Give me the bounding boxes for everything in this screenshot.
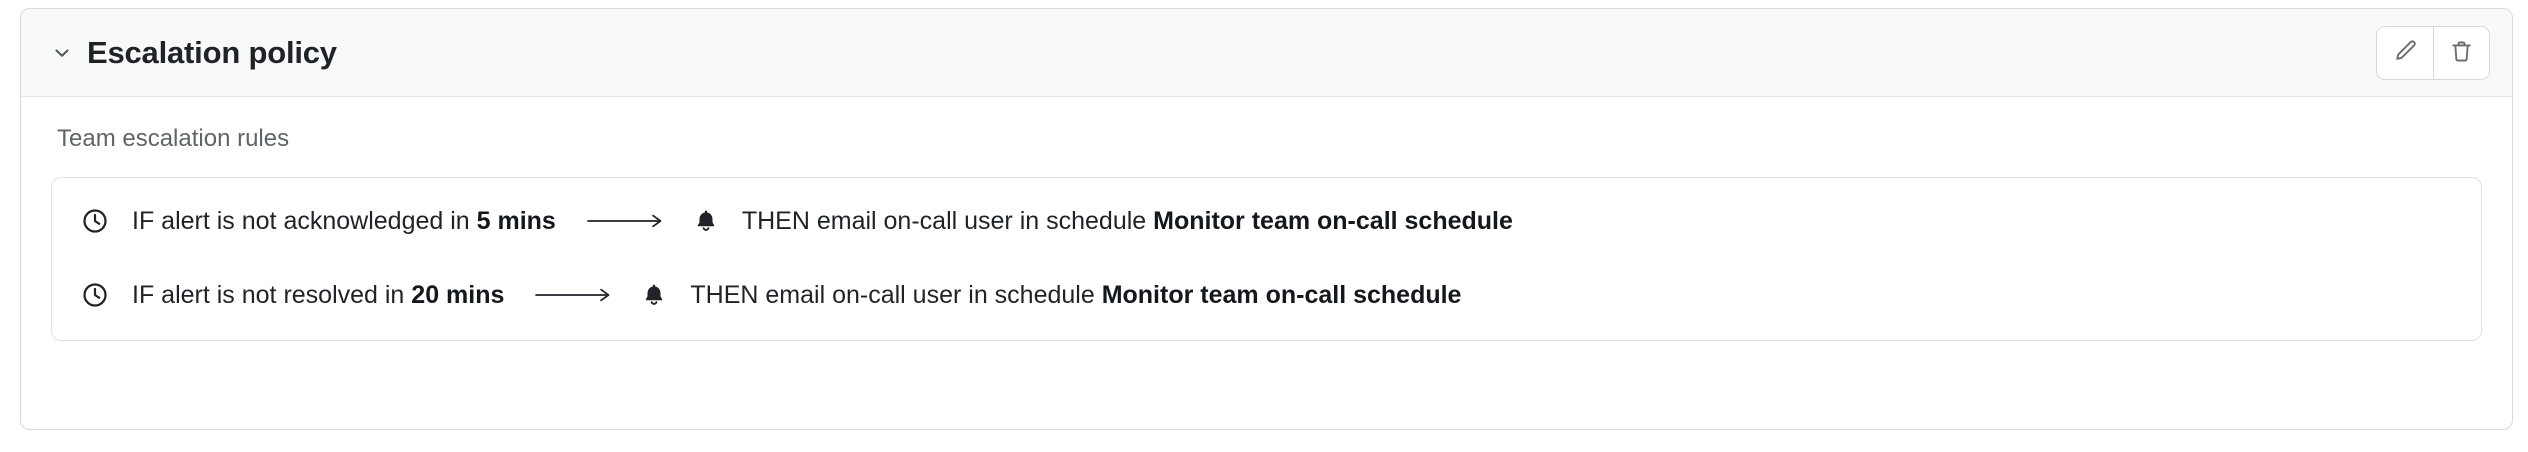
escalation-rules-box: IF alert is not acknowledged in 5 mins (51, 177, 2482, 341)
rule-condition-prefix: IF alert is not acknowledged in (132, 207, 477, 235)
clock-icon (80, 206, 110, 236)
page-title: Escalation policy (87, 35, 337, 71)
edit-button[interactable] (2377, 27, 2433, 79)
rule-action-text: THEN email on-call user in schedule Moni… (690, 281, 1461, 310)
rule-action-text: THEN email on-call user in schedule Moni… (742, 207, 1513, 236)
rule-condition-text: IF alert is not resolved in 20 mins (132, 281, 504, 310)
rule-action-prefix: THEN email on-call user in schedule (690, 281, 1101, 309)
clock-icon (80, 280, 110, 310)
rule-action-value: Monitor team on-call schedule (1153, 207, 1513, 235)
card-body: Team escalation rules IF alert is not ac… (21, 97, 2512, 429)
chevron-down-icon[interactable] (51, 42, 73, 64)
escalation-policy-card: Escalation policy (20, 8, 2513, 430)
pencil-icon (2392, 38, 2419, 68)
long-right-arrow-icon (534, 286, 614, 304)
trash-icon (2448, 38, 2475, 68)
rule-condition-value: 5 mins (477, 207, 556, 235)
bell-icon (692, 206, 720, 236)
section-label: Team escalation rules (57, 125, 2482, 153)
rule-condition-text: IF alert is not acknowledged in 5 mins (132, 207, 556, 236)
bell-icon (640, 280, 668, 310)
delete-button[interactable] (2433, 27, 2489, 79)
escalation-policy-panel: Escalation policy (0, 0, 2528, 452)
rule-action-prefix: THEN email on-call user in schedule (742, 207, 1153, 235)
escalation-rule-row: IF alert is not acknowledged in 5 mins (80, 198, 2453, 244)
rule-action-value: Monitor team on-call schedule (1102, 281, 1462, 309)
header-action-buttons (2376, 26, 2490, 80)
escalation-rule-row: IF alert is not resolved in 20 mins (80, 272, 2453, 318)
rule-condition-prefix: IF alert is not resolved in (132, 281, 411, 309)
card-header: Escalation policy (21, 9, 2512, 97)
header-left-group: Escalation policy (51, 35, 337, 71)
rule-condition-value: 20 mins (411, 281, 504, 309)
long-right-arrow-icon (586, 212, 666, 230)
